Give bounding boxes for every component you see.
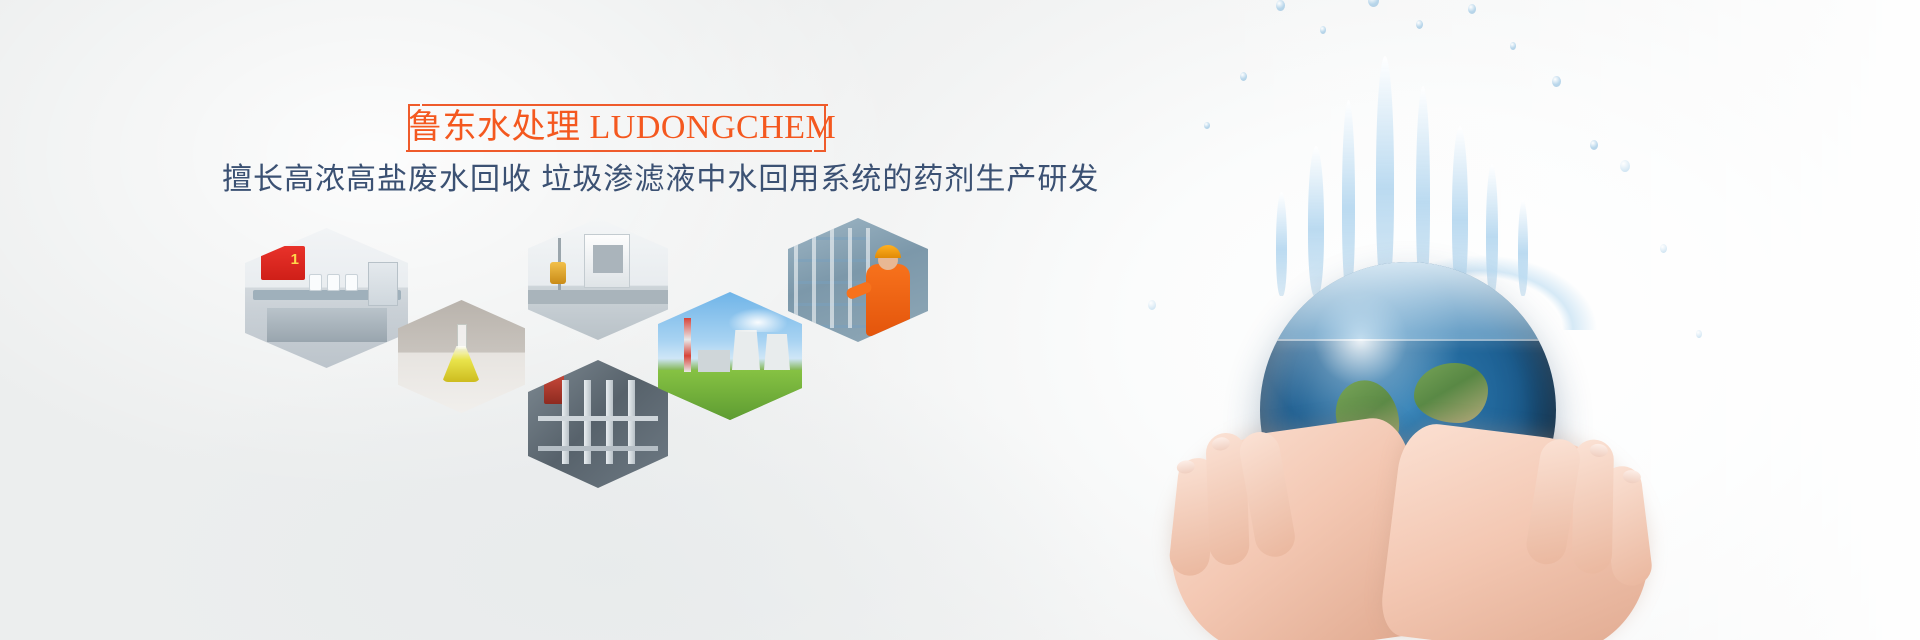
- splash-droplet: [1416, 20, 1423, 29]
- splash-droplet: [1276, 0, 1285, 11]
- floating-droplet: [1696, 330, 1702, 338]
- photo-industrial-piping-image: [528, 360, 668, 488]
- bench-front-shape: [267, 308, 387, 342]
- right-hand-shape: [1378, 420, 1662, 640]
- cooling-tower-icon: [732, 330, 760, 370]
- beam-shape: [538, 446, 658, 451]
- pipe-shape: [584, 380, 591, 464]
- globe-waterline-shape: [1260, 339, 1556, 341]
- splash-droplet: [1468, 4, 1476, 14]
- photo-power-plant-image: [658, 292, 802, 420]
- continent-shape: [1414, 363, 1488, 423]
- photo-field-worker-image: [788, 218, 928, 342]
- pipe-shape: [606, 380, 613, 464]
- hexagon-photo-cluster: [0, 0, 1000, 640]
- smoke-plume-shape: [728, 308, 788, 332]
- pipe-shape: [562, 380, 569, 464]
- hero-banner: 鲁东水处理 LUDONGCHEM 擅长高浓高盐废水回收 垃圾渗滤液中水回用系统的…: [0, 0, 1920, 640]
- photo-lab-equipment-image: [528, 218, 668, 340]
- jar-icon: [327, 274, 340, 291]
- photo-laboratory-room: [245, 228, 408, 368]
- hands-holding-water-globe: [1060, 0, 1920, 640]
- table-shape: [528, 290, 668, 304]
- pipe-shape: [628, 380, 635, 464]
- photo-laboratory-room-image: [245, 228, 408, 368]
- jar-icon: [345, 274, 358, 291]
- photo-field-worker: [788, 218, 928, 342]
- pipework-background-shape: [794, 228, 870, 328]
- splash-droplet: [1240, 72, 1247, 81]
- grass-field-shape: [658, 370, 802, 420]
- splash-droplet: [1510, 42, 1516, 50]
- floating-droplet: [1660, 244, 1667, 253]
- photo-chemical-flask: [398, 300, 525, 413]
- splash-droplet: [1320, 26, 1326, 34]
- splash-droplet: [1552, 76, 1561, 87]
- jar-icon: [309, 274, 322, 291]
- splash-droplet: [1590, 140, 1598, 150]
- safety-helmet-icon: [875, 245, 901, 258]
- beam-shape: [538, 416, 658, 421]
- floating-droplet: [1148, 300, 1156, 310]
- cabinet-shape: [368, 262, 398, 306]
- machine-shape: [584, 234, 630, 288]
- worker-body-shape: [866, 264, 910, 336]
- red-valve-icon: [544, 374, 564, 404]
- photo-chemical-flask-image: [398, 300, 525, 413]
- chimney-icon: [684, 318, 691, 372]
- photo-power-plant: [658, 292, 802, 420]
- splash-droplet: [1204, 122, 1210, 129]
- globe-sky-shape: [1260, 262, 1556, 339]
- photo-lab-equipment: [528, 218, 668, 340]
- red-poster-icon: [261, 246, 305, 280]
- floating-droplet: [1620, 160, 1630, 172]
- splash-spike: [1376, 56, 1394, 296]
- amber-bottle-icon: [550, 262, 566, 284]
- photo-industrial-piping: [528, 360, 668, 488]
- splash-droplet: [1368, 0, 1379, 7]
- building-shape: [698, 350, 730, 372]
- flask-icon: [442, 324, 480, 382]
- cooling-tower-icon: [764, 334, 790, 370]
